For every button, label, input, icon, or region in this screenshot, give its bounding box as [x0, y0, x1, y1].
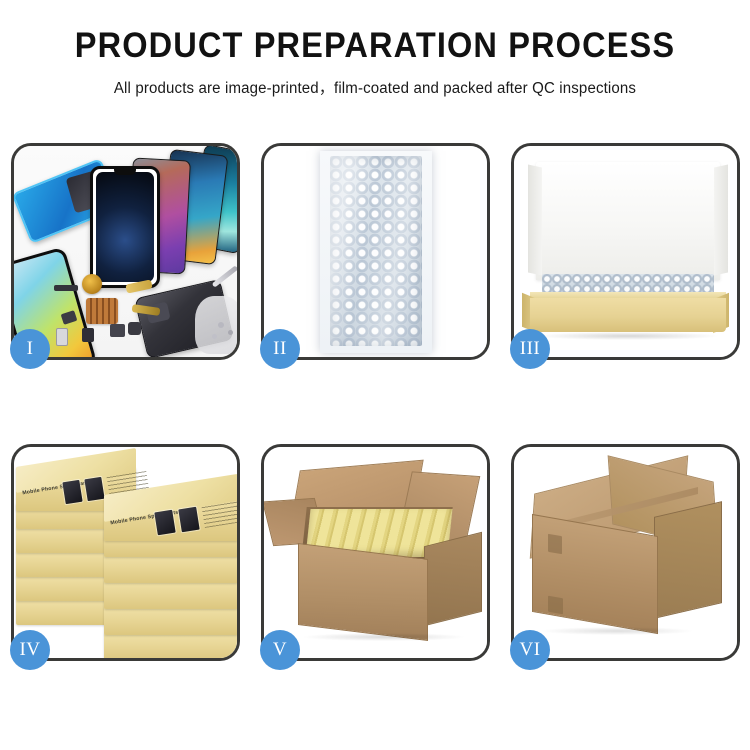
step-4-image: Mobile Phone Spare Parts Mobile Phone Sp… [14, 447, 237, 658]
label-screen-image [84, 477, 104, 501]
label-screen-image [62, 480, 82, 504]
page-header: PRODUCT PREPARATION PROCESS All products… [0, 0, 750, 98]
camera-module-part [128, 322, 141, 335]
chip-part-3 [82, 328, 94, 342]
hand-silhouette [195, 296, 237, 354]
phone-notch [114, 169, 136, 175]
copper-coil-part [82, 274, 102, 294]
label-screen-image [154, 510, 175, 536]
retail-box-stack: Mobile Phone Spare Parts Mobile Phone Sp… [16, 461, 237, 656]
retail-box [104, 555, 237, 583]
step-panel-6: VI [511, 444, 740, 661]
carton-tab-top [548, 534, 562, 554]
speaker-part [54, 285, 78, 291]
inner-box-front [530, 298, 726, 332]
circuit-grid-part [86, 298, 118, 324]
retail-box [104, 633, 237, 658]
step-panel-2: II [261, 143, 490, 360]
process-steps-grid: I II III [11, 143, 739, 661]
retail-box [104, 607, 237, 635]
carton-side-panel [424, 532, 482, 626]
carton-tab-bottom [548, 596, 563, 615]
product-preparation-process-page: PRODUCT PREPARATION PROCESS All products… [0, 0, 750, 750]
step-badge-1: I [10, 329, 50, 369]
step-6-image [514, 447, 737, 658]
retail-box [104, 581, 237, 609]
page-subtitle: All products are image-printed，film-coat… [11, 76, 739, 98]
step-2-image [264, 146, 487, 357]
step-1-image [14, 146, 237, 357]
screw-part-1 [218, 322, 224, 328]
page-title: PRODUCT PREPARATION PROCESS [26, 28, 724, 63]
step-badge-3: III [510, 329, 550, 369]
sealed-carton-front [532, 514, 658, 634]
step-panel-1: I [11, 143, 240, 360]
inner-box-shadow [538, 332, 718, 340]
step-badge-6: VI [510, 630, 550, 670]
connector-part [56, 328, 68, 346]
screw-part-2 [228, 330, 233, 335]
phone-black-screen [90, 166, 160, 288]
sealed-carton-side [654, 501, 722, 619]
chip-part-2 [110, 324, 125, 337]
step-badge-2: II [260, 329, 300, 369]
tweezers-tool [212, 265, 237, 287]
step-badge-4: IV [10, 630, 50, 670]
sealed-carton-shadow [542, 627, 692, 635]
bubble-wrap-sheen [330, 156, 422, 346]
retail-box-top-front: Mobile Phone Spare Parts [104, 495, 237, 541]
carton-front-panel [298, 543, 428, 641]
carton-shadow [304, 633, 464, 641]
step-panel-5: V [261, 444, 490, 661]
step-5-image [264, 447, 487, 658]
step-badge-5: V [260, 630, 300, 670]
screw-part-3 [212, 334, 217, 339]
inner-box-lid [536, 162, 720, 280]
label-screen-image [178, 507, 199, 533]
step-panel-4: Mobile Phone Spare Parts Mobile Phone Sp… [11, 444, 240, 661]
step-panel-3: III [511, 143, 740, 360]
step-3-image [514, 146, 737, 357]
